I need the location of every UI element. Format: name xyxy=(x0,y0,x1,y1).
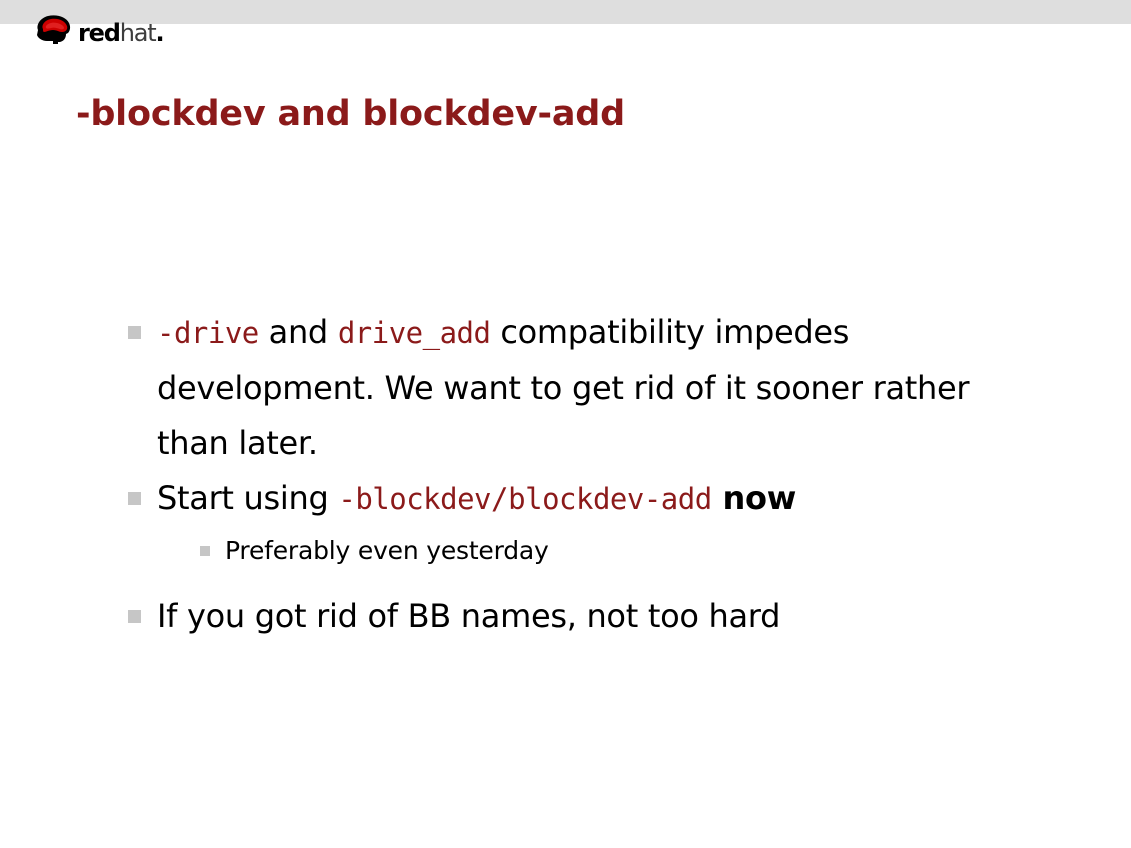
redhat-logo: redhat. xyxy=(33,12,163,46)
page-title: -blockdev and blockdev-add xyxy=(76,94,625,134)
bullet-1-text-1: and xyxy=(259,313,338,351)
bullet-4-text: If you got rid of BB names, not too hard xyxy=(157,597,780,635)
wordmark-dot: . xyxy=(155,19,163,47)
shadowman-icon xyxy=(33,14,75,46)
square-bullet-icon xyxy=(128,610,141,623)
presentation-slide: redhat. -blockdev and blockdev-add -driv… xyxy=(0,0,1131,848)
redhat-wordmark: redhat. xyxy=(78,21,163,45)
bullet-2-separator: / xyxy=(491,482,508,516)
header-bar xyxy=(0,0,1131,24)
square-bullet-icon xyxy=(128,492,141,505)
bullet-2-code-2: blockdev-add xyxy=(508,482,712,516)
bullet-3-text: Preferably even yesterday xyxy=(225,536,549,565)
list-item: If you got rid of BB names, not too hard xyxy=(0,589,1131,644)
square-bullet-icon xyxy=(128,326,141,339)
bullet-1-code-2: drive_add xyxy=(338,316,491,350)
list-item: Start using -blockdev/blockdev-add now xyxy=(0,471,1131,527)
square-bullet-icon xyxy=(200,546,210,556)
wordmark-hat: hat xyxy=(120,19,156,47)
bullet-2-code-1: -blockdev xyxy=(338,482,491,516)
bullet-1-code-1: -drive xyxy=(157,316,259,350)
list-item: Preferably even yesterday xyxy=(0,527,1131,575)
list-item: -drive and drive_add compatibility imped… xyxy=(0,305,1131,471)
wordmark-red: red xyxy=(78,19,120,47)
bullet-2-text-1: Start using xyxy=(157,479,338,517)
slide-body: -drive and drive_add compatibility imped… xyxy=(0,305,1131,644)
bullet-2-emphasis: now xyxy=(712,479,796,517)
